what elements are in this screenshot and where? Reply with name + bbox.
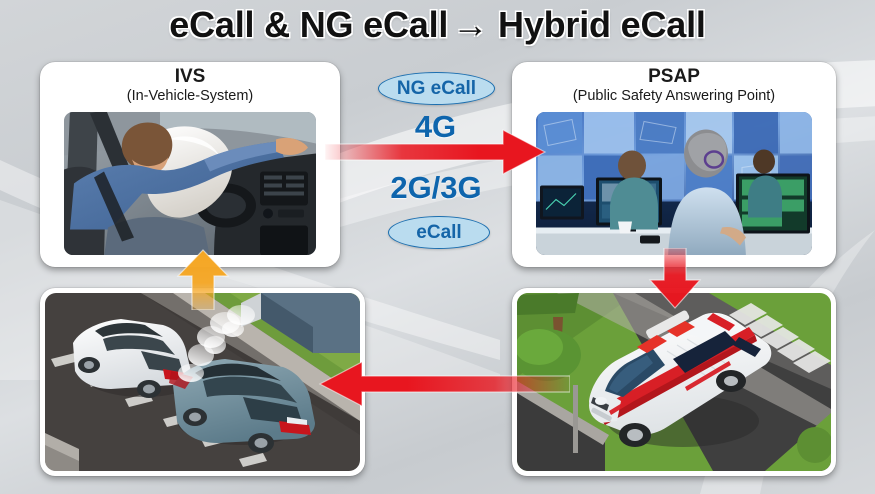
pill-ng-ecall[interactable]: NG eCall — [378, 72, 495, 105]
card-ivs-title: IVS — [40, 67, 340, 87]
pill-ng-ecall-label: NG eCall — [397, 78, 476, 100]
card-psap[interactable]: PSAP (Public Safety Answering Point) — [512, 62, 836, 267]
control-room-photo — [536, 112, 812, 255]
airbag-crash-photo — [64, 112, 316, 255]
card-ivs[interactable]: IVS (In-Vehicle-System) — [40, 62, 340, 267]
card-psap-subtitle: (Public Safety Answering Point) — [512, 87, 836, 105]
slide-canvas: eCall & NG eCall→Hybrid eCall IVS (In-Ve… — [0, 0, 875, 494]
page-title-part2: Hybrid eCall — [492, 4, 706, 45]
pill-ecall-label: eCall — [416, 222, 461, 244]
card-ivs-subtitle: (In-Vehicle-System) — [40, 87, 340, 105]
pill-ecall[interactable]: eCall — [388, 216, 490, 249]
page-title: eCall & NG eCall→Hybrid eCall — [0, 4, 875, 46]
title-arrow-icon: → — [448, 4, 492, 45]
amber-arrow-up-icon — [176, 248, 230, 310]
page-title-part1: eCall & NG eCall — [169, 4, 448, 45]
red-arrow-right-icon — [325, 128, 547, 176]
red-arrow-down-icon — [648, 248, 702, 310]
card-crash-scene[interactable] — [40, 288, 365, 476]
crash-scene-illustration — [45, 293, 360, 471]
card-psap-title: PSAP — [512, 67, 836, 87]
red-arrow-left-icon — [318, 360, 570, 408]
